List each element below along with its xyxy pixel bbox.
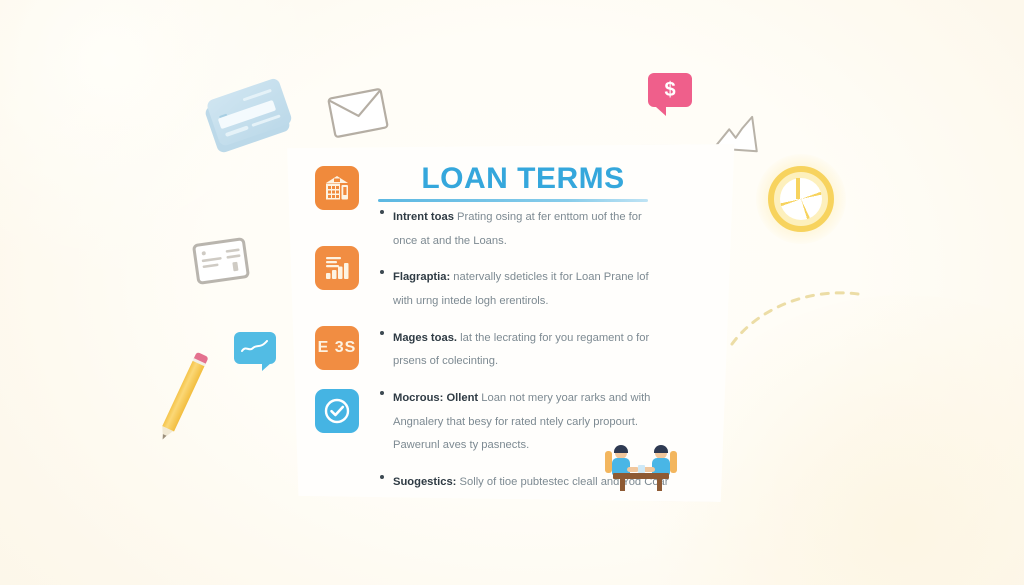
envelope-icon — [327, 87, 390, 139]
cup-icon — [638, 465, 645, 473]
chair-right — [670, 451, 677, 473]
list-item-lead: Anglestor — [393, 536, 445, 548]
list-item: Intrent toas Prating osing at fer enttom… — [379, 204, 669, 251]
list-item: Priect Joa Secerfor: Pron app conticnl s… — [379, 566, 669, 585]
list-item-lead: Intrent toas — [393, 211, 454, 223]
dollar-chat-bubble-icon: $ — [648, 73, 692, 107]
terms-list: Intrent toas Prating osing at fer enttom… — [379, 204, 669, 585]
poster-canvas: $ LOAN TERMS — [0, 0, 1024, 585]
page-title: LOAN TERMS — [388, 162, 658, 196]
list-item-lead: Suogestics: — [393, 476, 456, 488]
bar-chart-icon — [315, 246, 359, 290]
list-item-text: Secerfor: Pron app conticnl soins. — [446, 573, 616, 585]
dashed-arc-decoration — [726, 282, 866, 352]
background-glow-top-left — [0, 0, 340, 270]
list-item-lead: Priect Joa — [393, 573, 446, 585]
bank-building-icon — [315, 166, 359, 210]
loan-terms-card: LOAN TERMS — [283, 144, 738, 502]
rate-badge-icon: E 3S — [315, 326, 359, 370]
document-card-icon — [191, 236, 250, 285]
list-item: Anglestor inem be intetts to for croun a… — [379, 529, 669, 553]
title-underline — [378, 199, 648, 202]
credit-card-icon — [206, 77, 295, 151]
list-item: Flagraptia: natervally sdeticles it for … — [379, 264, 669, 311]
pencil-icon — [156, 352, 208, 444]
list-item-lead: Mocrous: Ollent — [393, 392, 478, 404]
check-circle-icon — [315, 389, 359, 433]
table-leg-right — [657, 479, 662, 491]
list-item: Mages toas. lat the lecrating for you re… — [379, 325, 669, 372]
rate-badge-label: E 3S — [318, 339, 357, 357]
person-left — [611, 447, 631, 475]
person-right — [651, 447, 671, 475]
list-item-text: inem be intetts to for croun andntess. — [445, 536, 632, 548]
dollar-sign-label: $ — [648, 73, 692, 107]
list-item-lead: Mages toas. — [393, 332, 457, 344]
table-leg-left — [620, 479, 625, 491]
gold-coin-icon — [768, 166, 834, 232]
list-item-lead: Flagraptia: — [393, 271, 450, 283]
chart-chat-bubble-icon — [234, 332, 276, 364]
two-people-meeting-illustration — [605, 439, 677, 491]
